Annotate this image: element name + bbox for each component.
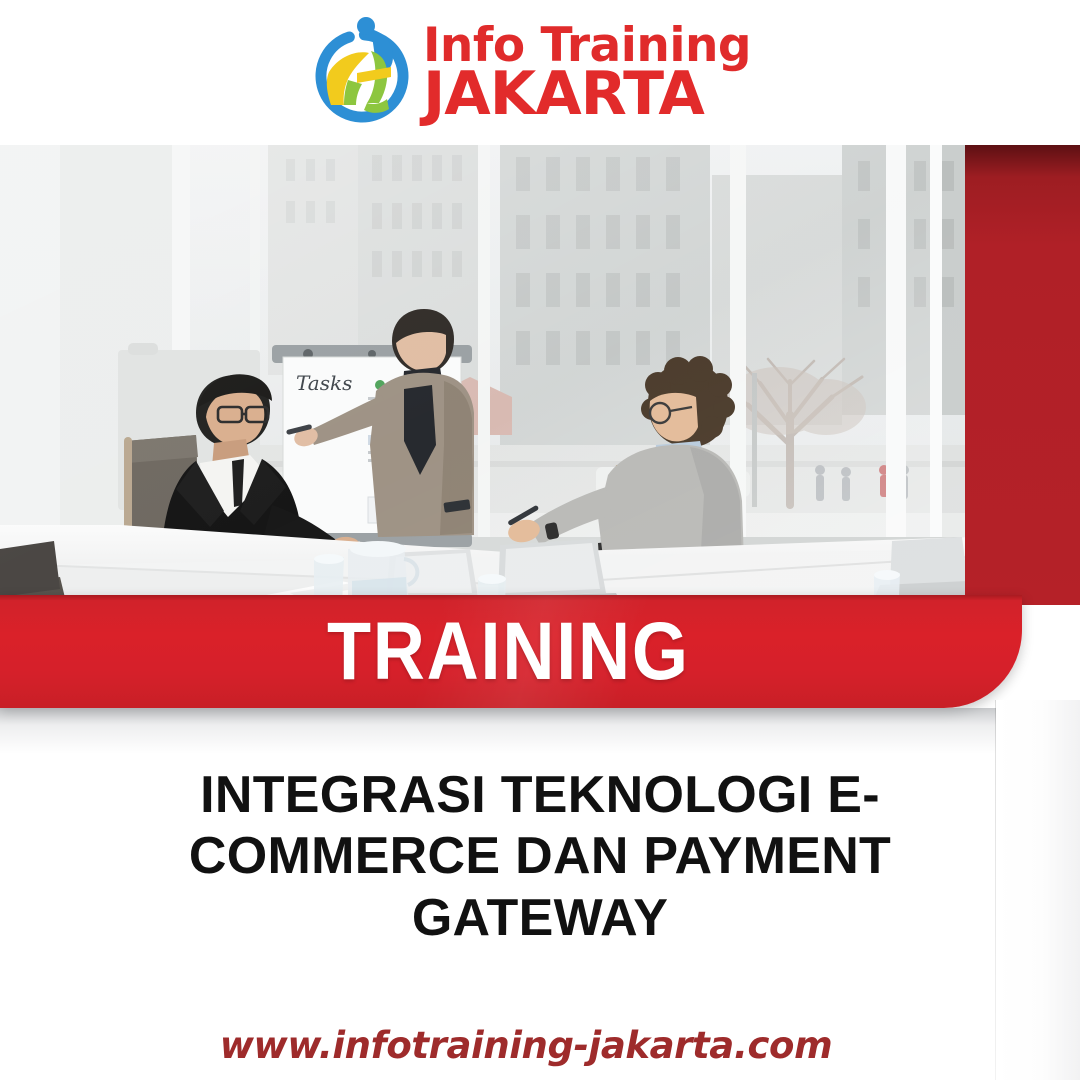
banner-drop-shadow [0,708,1000,754]
brand-logo[interactable]: Info Training JAKARTA [0,14,1080,132]
it-circle-logo-icon [309,17,415,129]
website-url-text: www.infotraining-jakarta.com [220,1024,832,1067]
banner-label: TRAINING [59,595,958,708]
poster-canvas: Info Training JAKARTA [0,0,1080,1080]
training-banner: TRAINING [0,595,1022,708]
hero-photo: Tasks [0,145,968,602]
brand-name-line2: JAKARTA [423,68,751,121]
page-title: INTEGRASI TEKNOLOGI E-COMMERCE DAN PAYME… [130,765,950,949]
page-edge-shade [996,700,1080,1080]
brand-wordmark: Info Training JAKARTA [423,25,751,121]
website-url[interactable]: www.infotraining-jakarta.com [0,1024,1066,1067]
page-edge-line [995,700,996,1080]
hero-right-accent-bar [965,145,1080,605]
